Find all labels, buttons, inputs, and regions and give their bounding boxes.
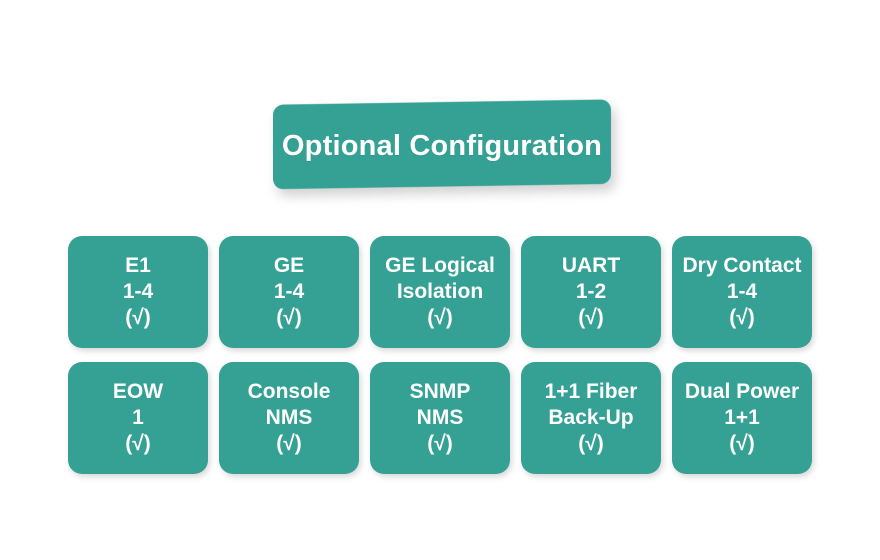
option-detail: NMS [417, 406, 464, 430]
check-mark-icon: (√) [276, 306, 302, 330]
option-detail: NMS [266, 406, 313, 430]
banner-title: Optional Configuration [270, 96, 614, 196]
option-box-dual-power[interactable]: Dual Power 1+1 (√) [672, 362, 812, 474]
option-detail: 1-4 [123, 280, 153, 304]
check-mark-icon: (√) [125, 432, 151, 456]
option-row-2: EOW 1 (√) Console NMS (√) SNMP NMS (√) [68, 362, 814, 474]
option-box-text: GE Logical Isolation (√) [356, 236, 524, 348]
option-detail: 1+1 [724, 406, 760, 430]
check-mark-icon: (√) [578, 306, 604, 330]
option-detail: 1 [132, 406, 144, 430]
option-box-dry-contact[interactable]: Dry Contact 1-4 (√) [672, 236, 812, 348]
option-title: SNMP [410, 380, 471, 404]
option-box-ge[interactable]: GE 1-4 (√) [219, 236, 359, 348]
option-title: Dry Contact [682, 254, 801, 278]
check-mark-icon: (√) [578, 432, 604, 456]
check-mark-icon: (√) [427, 306, 453, 330]
option-box-text: Dual Power 1+1 (√) [658, 362, 826, 474]
option-box-text: 1+1 Fiber Back-Up (√) [507, 362, 675, 474]
option-title: 1+1 Fiber [545, 380, 638, 404]
check-mark-icon: (√) [729, 432, 755, 456]
option-detail: 1-2 [576, 280, 606, 304]
diagram-canvas: Optional Configuration E1 1-4 (√) GE 1-4… [0, 0, 880, 560]
option-row-1: E1 1-4 (√) GE 1-4 (√) GE Logical Isolati… [68, 236, 814, 348]
option-title: GE Logical [385, 254, 495, 278]
check-mark-icon: (√) [427, 432, 453, 456]
option-detail: 1-4 [727, 280, 757, 304]
option-box-text: UART 1-2 (√) [507, 236, 675, 348]
option-title: UART [562, 254, 620, 278]
option-title: EOW [113, 380, 163, 404]
option-title: Dual Power [685, 380, 799, 404]
check-mark-icon: (√) [729, 306, 755, 330]
option-title: GE [274, 254, 304, 278]
check-mark-icon: (√) [125, 306, 151, 330]
option-detail: Back-Up [548, 406, 633, 430]
option-detail: 1-4 [274, 280, 304, 304]
option-box-text: Dry Contact 1-4 (√) [658, 236, 826, 348]
option-box-uart[interactable]: UART 1-2 (√) [521, 236, 661, 348]
optional-configuration-banner: Optional Configuration [270, 96, 614, 196]
option-box-snmp-nms[interactable]: SNMP NMS (√) [370, 362, 510, 474]
option-detail: Isolation [397, 280, 483, 304]
option-box-text: Console NMS (√) [205, 362, 373, 474]
option-title: Console [248, 380, 331, 404]
option-box-text: EOW 1 (√) [54, 362, 222, 474]
option-box-text: SNMP NMS (√) [356, 362, 524, 474]
option-box-console-nms[interactable]: Console NMS (√) [219, 362, 359, 474]
option-box-text: GE 1-4 (√) [205, 236, 373, 348]
option-grid: E1 1-4 (√) GE 1-4 (√) GE Logical Isolati… [68, 236, 814, 488]
option-box-eow[interactable]: EOW 1 (√) [68, 362, 208, 474]
option-box-fiber-backup[interactable]: 1+1 Fiber Back-Up (√) [521, 362, 661, 474]
check-mark-icon: (√) [276, 432, 302, 456]
option-box-ge-logical-isolation[interactable]: GE Logical Isolation (√) [370, 236, 510, 348]
option-box-text: E1 1-4 (√) [54, 236, 222, 348]
option-box-e1[interactable]: E1 1-4 (√) [68, 236, 208, 348]
option-title: E1 [125, 254, 151, 278]
